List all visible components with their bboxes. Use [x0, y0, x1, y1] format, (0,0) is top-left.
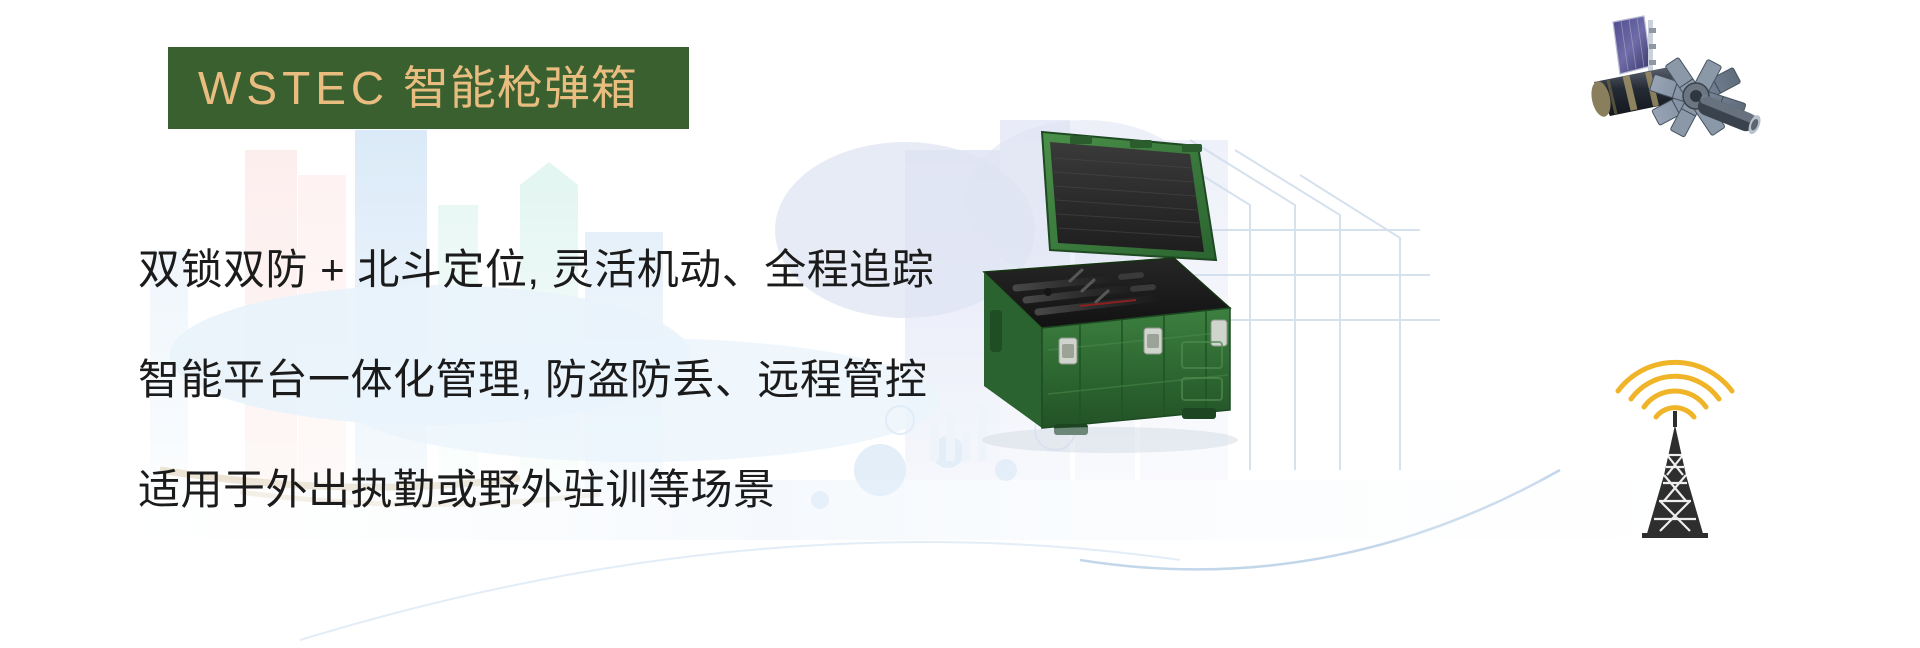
- case-lid: [1042, 132, 1216, 260]
- case-svg: [930, 110, 1260, 470]
- solar-panel: [1613, 16, 1656, 74]
- tower-base: [1642, 533, 1708, 538]
- feature-line-2: 智能平台一体化管理, 防盗防丢、远程管控: [138, 325, 1038, 435]
- tower-structure: [1646, 425, 1704, 537]
- satellite-svg: [1588, 4, 1773, 154]
- brand-name: WSTEC: [198, 62, 389, 114]
- title-banner: WSTEC 智能枪弹箱: [168, 47, 689, 129]
- feature-line-3: 适用于外出执勤或野外驻训等场景: [138, 435, 1038, 545]
- promo-banner: WSTEC 智能枪弹箱 双锁双防 + 北斗定位, 灵活机动、全程追踪 智能平台一…: [0, 0, 1920, 648]
- antenna-mast: [1673, 411, 1677, 427]
- signal-waves: [1618, 362, 1732, 417]
- product-name: 智能枪弹箱: [403, 62, 638, 114]
- tower-svg: [1600, 355, 1750, 540]
- ammunition-case-photo: [930, 110, 1260, 470]
- feature-line-1: 双锁双防 + 北斗定位, 灵活机动、全程追踪: [138, 215, 1038, 325]
- satellite-icon: [1588, 4, 1773, 154]
- page-title: WSTEC 智能枪弹箱: [198, 65, 638, 111]
- case-base: [982, 258, 1238, 453]
- feature-copy-list: 双锁双防 + 北斗定位, 灵活机动、全程追踪 智能平台一体化管理, 防盗防丢、远…: [138, 215, 1038, 545]
- signal-tower-icon: [1600, 355, 1750, 540]
